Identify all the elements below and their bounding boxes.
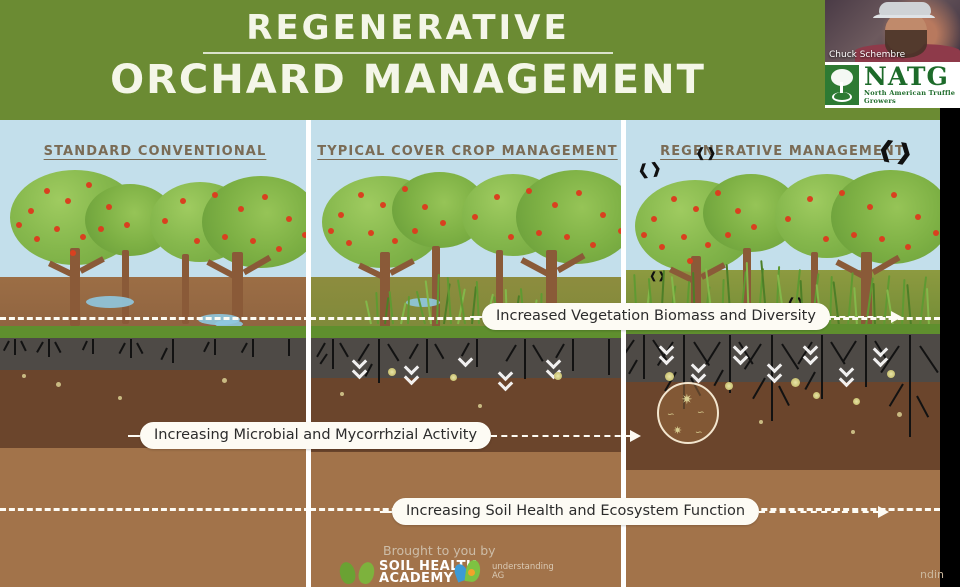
arrow-head-icon [878,506,889,518]
surface-dashed-line [0,317,310,320]
right-black-rail [940,108,960,587]
swoosh-icon [455,560,489,584]
natg-wordmark: NATG [864,65,960,89]
truffle-tree-icon [825,65,859,105]
bird-icon: ❰❱ [875,137,915,165]
bird-icon: ❰❱ [695,146,717,159]
participant-cap [879,2,931,15]
callout-vegetation-biomass: Increased Vegetation Biomass and Diversi… [470,303,902,330]
screen-share-stage: REGENERATIVE ORCHARD MANAGEMENT STANDARD… [0,0,960,587]
deep-soil-dashed-line [0,508,310,511]
slide-header: REGENERATIVE ORCHARD MANAGEMENT [0,0,940,120]
arrow-head-icon [630,430,641,442]
grass-strip [0,326,310,338]
presentation-slide: REGENERATIVE ORCHARD MANAGEMENT STANDARD… [0,0,940,587]
screen-share-indicator: ndin [920,568,960,581]
tree-canopy [202,176,310,268]
fungal-node [450,374,457,381]
fungal-node [665,372,674,381]
title-divider-rule [203,52,613,54]
slide-footer: Brought to you by SOIL HEALTH ACADEMY un… [0,540,940,587]
fungal-node [887,370,895,378]
natg-logo: NATG North American Truffle Growers [825,62,960,108]
column-divider [306,120,311,587]
fungal-node [791,378,800,387]
understanding-ag-logo: understanding AG [455,560,554,584]
water-puddle [86,296,134,308]
slide-title-line2: ORCHARD MANAGEMENT [0,56,816,104]
microbe-magnifier-circle: ✷ ∽ ∽ ✷ ∽ [657,382,719,444]
tree-canopy [516,170,625,264]
fungal-node [388,368,396,376]
participant-name-label: Chuck Schembre [829,50,905,60]
webcam-video-tile[interactable]: Chuck Schembre [825,0,960,62]
slide-title-block: REGENERATIVE ORCHARD MANAGEMENT [0,8,816,104]
ua-logo-line2: AG [492,572,554,581]
tree-canopy [831,170,940,264]
column-header-typical-cover-crop: TYPICAL COVER CROP MANAGEMENT [310,144,625,159]
slide-title-line1: REGENERATIVE [0,8,816,48]
tree-trunk [122,250,129,324]
bird-icon: ❰❱ [636,160,663,178]
arrow-head-icon [891,311,902,323]
column-header-standard-conventional: STANDARD CONVENTIONAL [0,144,310,159]
soil-topsoil-layer [0,338,310,370]
callout-microbial-activity: Increasing Microbial and Mycorrhzial Act… [128,422,641,449]
callout-label: Increasing Soil Health and Ecosystem Fun… [392,498,759,525]
callout-label: Increased Vegetation Biomass and Diversi… [482,303,830,330]
natg-subtitle: North American Truffle Growers [864,89,960,105]
brought-to-you-by-label: Brought to you by [383,543,496,558]
book-leaf-icon [340,560,374,586]
tree-trunk [182,254,189,324]
fungal-node [813,392,820,399]
fungal-node [554,372,562,380]
fungal-node [725,382,733,390]
column-standard-conventional: STANDARD CONVENTIONAL [0,120,310,587]
callout-soil-health: Increasing Soil Health and Ecosystem Fun… [380,498,889,525]
tree-trunk [70,248,80,326]
fungal-node [853,398,860,405]
callout-label: Increasing Microbial and Mycorrhzial Act… [140,422,491,449]
